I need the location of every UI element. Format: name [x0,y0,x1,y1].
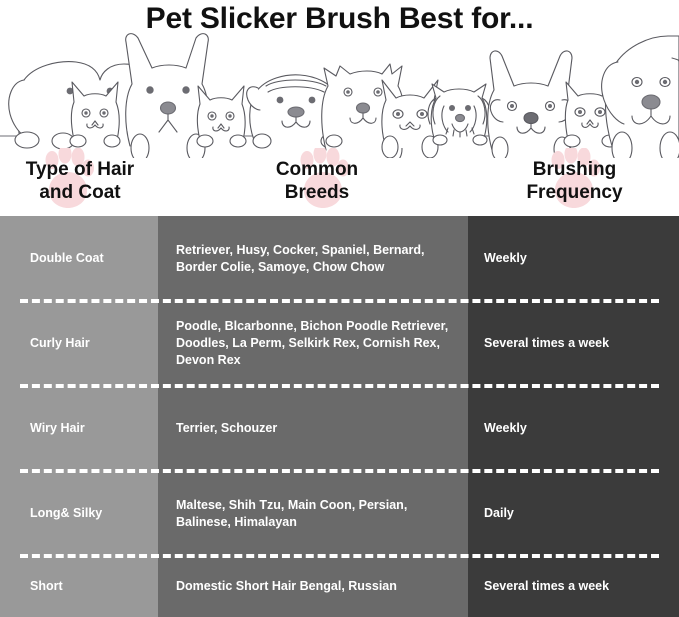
cell-hair-type: Short [0,556,158,617]
column-header-line-2: Frequency [470,181,679,204]
pet-brush-infographic: Pet Slicker Brush Best for... [0,0,679,617]
table-row: Short Domestic Short Hair Bengal, Russia… [0,556,679,617]
cell-brushing-frequency: Weekly [468,216,679,301]
cell-brushing-frequency: Several times a week [468,556,679,617]
cell-hair-type: Long& Silky [0,471,158,556]
table-row: Long& Silky Maltese, Shih Tzu, Main Coon… [0,471,679,556]
column-header-line-2: Breeds [205,181,429,204]
cell-common-breeds: Domestic Short Hair Bengal, Russian [158,556,468,617]
pet-illustration-band [0,28,679,158]
column-header-brushing-frequency: Brushing Frequency [470,158,679,204]
cell-hair-type: Double Coat [0,216,158,301]
cell-hair-type: Wiry Hair [0,386,158,471]
cell-common-breeds: Maltese, Shih Tzu, Main Coon, Persian, B… [158,471,468,556]
row-divider [20,554,659,558]
row-divider [20,469,659,473]
cell-common-breeds: Retriever, Husy, Cocker, Spaniel, Bernar… [158,216,468,301]
column-header-line-1: Brushing [470,158,679,181]
column-header-common-breeds: Common Breeds [205,158,429,204]
cell-brushing-frequency: Daily [468,471,679,556]
cell-hair-type: Curly Hair [0,301,158,386]
table-row: Curly Hair Poodle, Blcarbonne, Bichon Po… [0,301,679,386]
cell-brushing-frequency: Weekly [468,386,679,471]
column-header-line-1: Type of Hair [0,158,160,181]
cell-brushing-frequency: Several times a week [468,301,679,386]
table-row: Double Coat Retriever, Husy, Cocker, Spa… [0,216,679,301]
row-divider [20,299,659,303]
pet-cat-2 [197,86,246,147]
column-header-line-2: and Coat [0,181,160,204]
hair-type-table: Double Coat Retriever, Husy, Cocker, Spa… [0,216,679,617]
cell-common-breeds: Poodle, Blcarbonne, Bichon Poodle Retrie… [158,301,468,386]
pet-shaggy-dog [428,84,490,145]
cell-common-breeds: Terrier, Schouzer [158,386,468,471]
column-headers: Type of Hair and Coat Common Breeds Brus… [0,140,679,216]
column-header-type-of-hair: Type of Hair and Coat [0,158,160,204]
row-divider [20,384,659,388]
table-row: Wiry Hair Terrier, Schouzer Weekly [0,386,679,471]
column-header-line-1: Common [205,158,429,181]
